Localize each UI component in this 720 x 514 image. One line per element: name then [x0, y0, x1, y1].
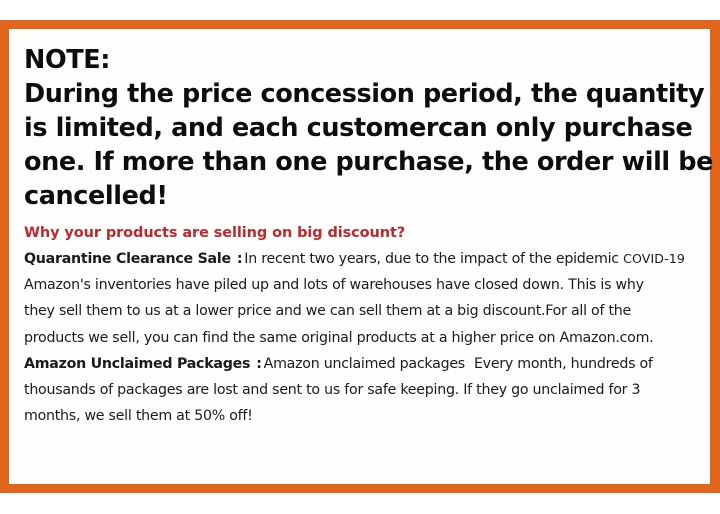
quarantine-clearance-sale-section: Quarantine Clearance Sale:In recent two … [24, 246, 706, 351]
covid-19-label: COVID-19 [623, 251, 685, 266]
section-2-title: Amazon Unclaimed Packages [24, 356, 250, 372]
section-2-line-3: months, we sell them at 50% off! [24, 403, 706, 429]
amazon-unclaimed-packages-section: Amazon Unclaimed Packages:Amazon unclaim… [24, 351, 706, 430]
note-callout-frame: NOTE: During the price concession period… [0, 20, 720, 493]
note-heading-line-5: cancelled! [24, 179, 706, 213]
section-2-line-1-after: Every month, hundreds of [474, 356, 653, 372]
section-1-line-1-text: In recent two years, due to the impact o… [244, 251, 623, 267]
note-heading-line-1: NOTE: [24, 43, 706, 77]
note-heading-line-4: one. If more than one purchase, the orde… [24, 145, 706, 179]
section-2-separator: : [250, 356, 263, 372]
section-2-line-2: thousands of packages are lost and sent … [24, 377, 706, 403]
note-heading: NOTE: During the price concession period… [24, 43, 706, 213]
section-1-separator: : [231, 251, 244, 267]
note-heading-line-3: is limited, and each customercan only pu… [24, 111, 706, 145]
section-2-line-1-before: Amazon unclaimed packages [264, 356, 465, 372]
discount-question-subheading: Why your products are selling on big dis… [24, 222, 706, 244]
section-1-line-2: Amazon's inventories have piled up and l… [24, 272, 706, 298]
note-content: NOTE: During the price concession period… [9, 29, 710, 429]
section-2-line-1: Amazon Unclaimed Packages:Amazon unclaim… [24, 351, 706, 377]
note-heading-line-2: During the price concession period, the … [24, 77, 706, 111]
section-1-title: Quarantine Clearance Sale [24, 251, 231, 267]
section-1-line-3: they sell them to us at a lower price an… [24, 298, 706, 324]
section-1-line-1: Quarantine Clearance Sale:In recent two … [24, 246, 706, 272]
section-1-line-4: products we sell, you can find the same … [24, 325, 706, 351]
